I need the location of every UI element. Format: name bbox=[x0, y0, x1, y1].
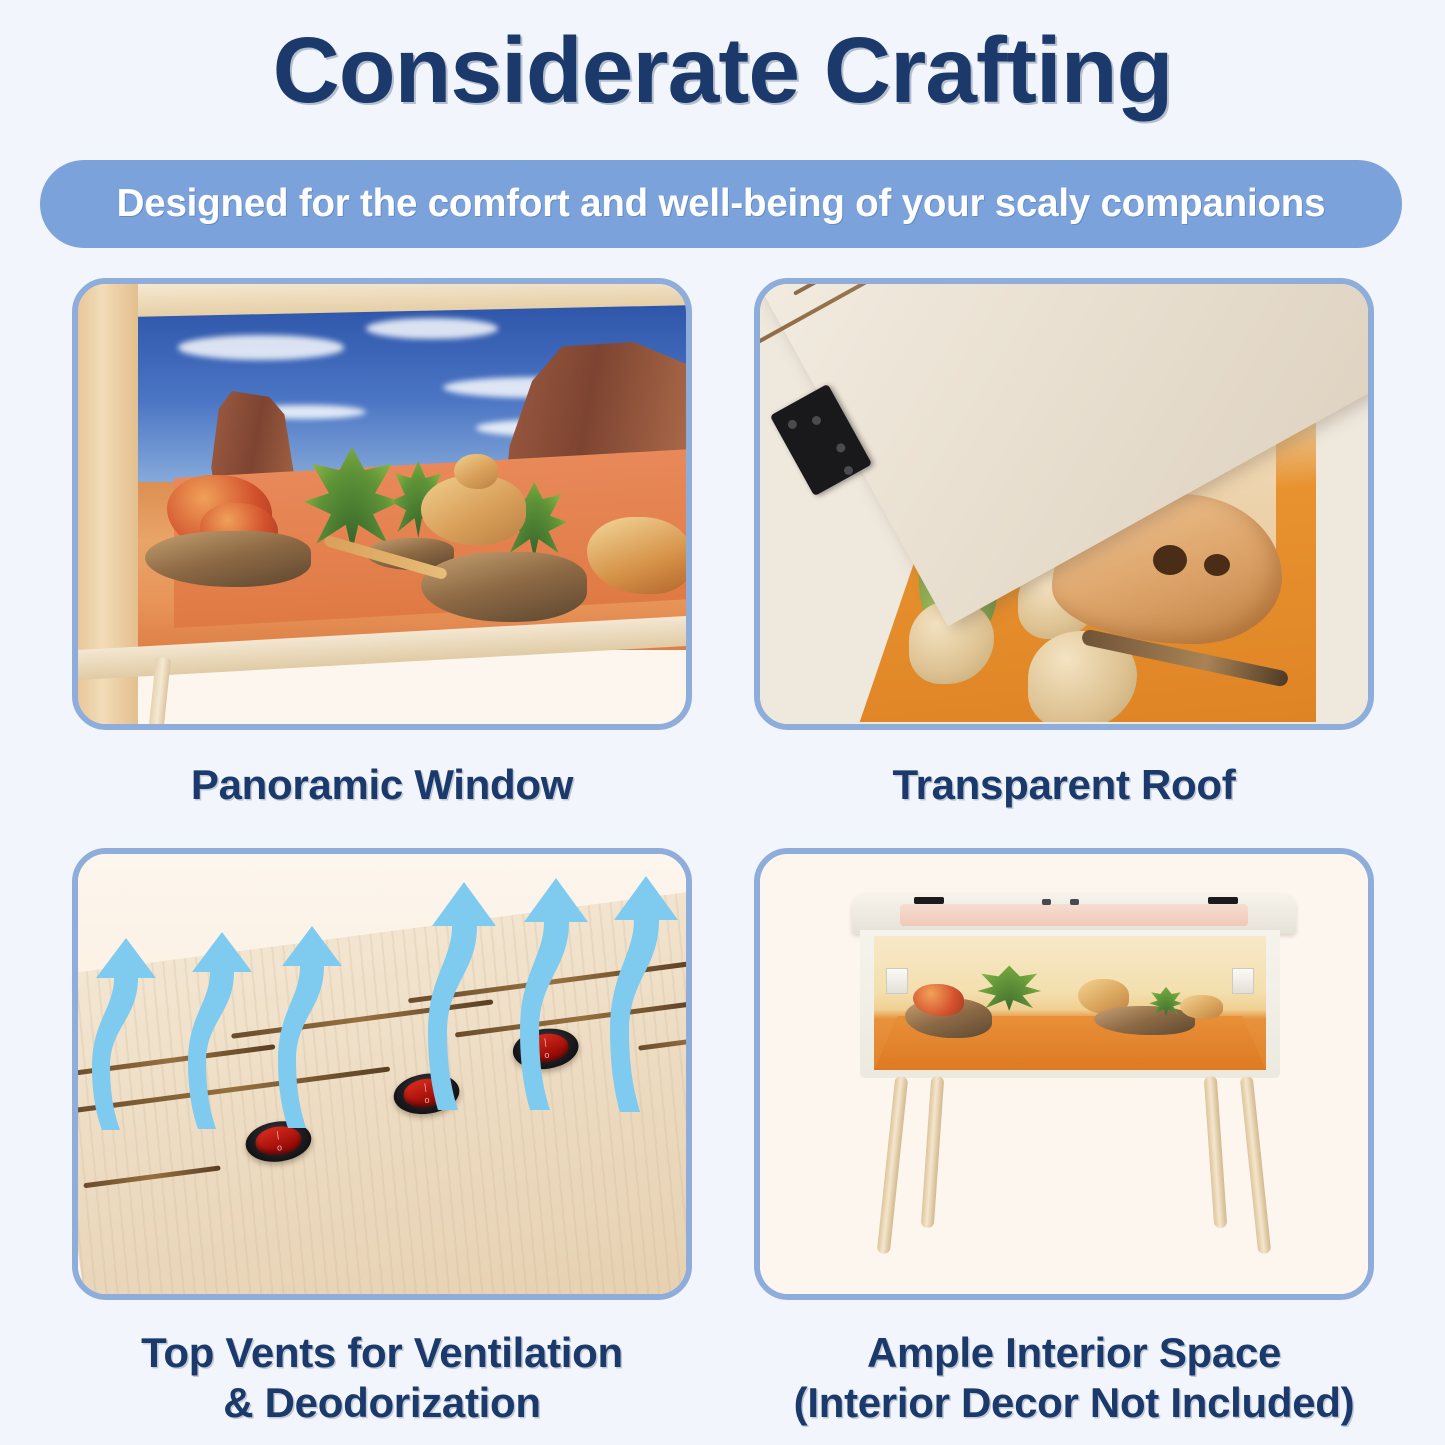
infographic-root: Considerate Crafting Designed for the co… bbox=[0, 0, 1445, 1445]
airflow-arrow-icon bbox=[186, 926, 258, 1131]
full-product-photo bbox=[760, 854, 1368, 1294]
panel-ample-interior bbox=[754, 848, 1374, 1300]
skull-eye-socket bbox=[1204, 554, 1230, 576]
panel-panoramic-window bbox=[72, 278, 692, 730]
page-title: Considerate Crafting bbox=[0, 22, 1445, 120]
hinge-screw bbox=[844, 466, 853, 475]
vent-slot bbox=[83, 1166, 221, 1189]
cabinet-lid bbox=[852, 894, 1296, 934]
subtitle-banner: Designed for the comfort and well-being … bbox=[40, 160, 1402, 248]
skull-eye-socket bbox=[1153, 545, 1187, 575]
subtitle-text: Designed for the comfort and well-being … bbox=[117, 182, 1326, 226]
caption-transparent-roof: Transparent Roof bbox=[754, 760, 1374, 810]
transparent-roof-photo bbox=[760, 284, 1368, 724]
side-ventilation-grille bbox=[1232, 968, 1254, 994]
airflow-arrow-icon bbox=[276, 920, 348, 1130]
palm-plant-decor bbox=[976, 965, 1043, 1011]
caption-ample-interior: Ample Interior Space (Interior Decor Not… bbox=[734, 1328, 1414, 1427]
panel-transparent-roof bbox=[754, 278, 1374, 730]
top-vents-photo: | o | o | o bbox=[78, 854, 686, 1294]
airflow-arrow-icon bbox=[518, 872, 594, 1112]
caption-top-vents-line2: & Deodorization bbox=[223, 1379, 541, 1426]
cabinet-body bbox=[860, 930, 1280, 1078]
transparent-lid-panel bbox=[900, 904, 1248, 926]
caption-top-vents: Top Vents for Ventilation & Deodorizatio… bbox=[42, 1328, 722, 1427]
cabinet-interior bbox=[874, 936, 1266, 1070]
airflow-arrow-icon bbox=[608, 870, 684, 1114]
caption-top-vents-line1: Top Vents for Ventilation bbox=[141, 1329, 623, 1376]
side-ventilation-grille bbox=[886, 968, 908, 994]
hinge-screw bbox=[812, 416, 821, 425]
bearded-dragon-head bbox=[454, 454, 498, 489]
caption-panoramic-window: Panoramic Window bbox=[72, 760, 692, 810]
caption-ample-interior-line2: (Interior Decor Not Included) bbox=[794, 1379, 1355, 1426]
terrarium-cabinet bbox=[852, 894, 1296, 1104]
airflow-arrow-icon bbox=[90, 932, 162, 1132]
cloud-shape bbox=[178, 335, 344, 360]
lid-latch bbox=[1070, 899, 1079, 905]
bearded-dragon-figure bbox=[1180, 995, 1223, 1019]
airflow-arrow-icon bbox=[426, 876, 502, 1112]
lid-latch bbox=[1042, 899, 1051, 905]
panoramic-window-photo bbox=[78, 284, 686, 724]
panel-top-vents: | o | o | o bbox=[72, 848, 692, 1300]
caption-ample-interior-line1: Ample Interior Space bbox=[867, 1329, 1281, 1376]
window-glass-area bbox=[134, 300, 686, 650]
lid-vent-slot bbox=[914, 897, 944, 904]
cloud-shape bbox=[366, 318, 498, 339]
lid-vent-slot bbox=[1208, 897, 1238, 904]
